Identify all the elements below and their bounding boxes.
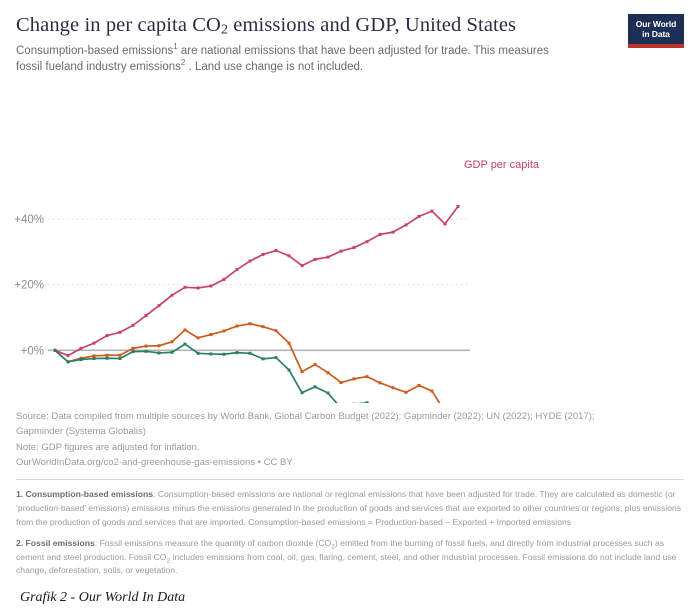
owid-logo-line-1: Our World: [636, 19, 677, 29]
data-point[interactable]: [236, 351, 239, 354]
data-point[interactable]: [184, 343, 187, 346]
source-line-2: Gapminder (Systema Globalis): [16, 424, 684, 439]
data-point[interactable]: [327, 371, 330, 374]
source-block: Source: Data compiled from multiple sour…: [16, 403, 684, 471]
data-point[interactable]: [288, 368, 291, 371]
data-point[interactable]: [223, 329, 226, 332]
y-tick-label: +20%: [14, 280, 44, 292]
data-point[interactable]: [366, 375, 369, 378]
chart-page: Change in per capita CO2 emissions and G…: [0, 0, 700, 612]
data-point[interactable]: [223, 353, 226, 356]
data-point[interactable]: [93, 342, 96, 345]
data-point[interactable]: [327, 391, 330, 394]
data-point[interactable]: [405, 391, 408, 394]
y-tick-label: +40%: [14, 214, 44, 226]
line-chart-svg: +40%+20%+0%-20% 199019952000200520102015…: [0, 78, 700, 403]
data-point[interactable]: [275, 249, 278, 252]
data-point[interactable]: [223, 278, 226, 281]
data-point[interactable]: [106, 334, 109, 337]
data-point[interactable]: [431, 389, 434, 392]
data-point[interactable]: [366, 401, 369, 403]
data-point[interactable]: [262, 253, 265, 256]
data-point[interactable]: [392, 231, 395, 234]
data-point[interactable]: [444, 222, 447, 225]
footnote-2-body-a: : Fossil emissions measure the quantity …: [95, 538, 331, 548]
chart-header: Change in per capita CO2 emissions and G…: [0, 0, 700, 76]
data-point[interactable]: [314, 385, 317, 388]
data-series-group: [54, 205, 460, 403]
data-point[interactable]: [301, 370, 304, 373]
owid-logo-line-2: in Data: [642, 29, 670, 39]
data-point[interactable]: [93, 357, 96, 360]
data-point[interactable]: [301, 391, 304, 394]
y-axis-tick-labels: +40%+20%+0%-20%: [14, 214, 44, 403]
data-point[interactable]: [275, 329, 278, 332]
data-point[interactable]: [314, 363, 317, 366]
data-point[interactable]: [54, 349, 57, 352]
data-point[interactable]: [210, 284, 213, 287]
data-point[interactable]: [197, 286, 200, 289]
data-point[interactable]: [171, 340, 174, 343]
series-line-2: [55, 344, 458, 403]
footer-divider-1: [16, 479, 684, 480]
data-point[interactable]: [93, 354, 96, 357]
series-line-0: [55, 206, 458, 355]
data-point[interactable]: [67, 354, 70, 357]
data-point[interactable]: [418, 215, 421, 218]
figure-caption: Grafik 2 - Our World In Data: [16, 586, 684, 606]
data-point[interactable]: [184, 328, 187, 331]
data-point[interactable]: [132, 347, 135, 350]
data-point[interactable]: [301, 264, 304, 267]
series-inline-labels: GDP per capitaConsumption-based CO₂ per …: [464, 159, 639, 403]
data-point[interactable]: [431, 210, 434, 213]
data-point[interactable]: [418, 384, 421, 387]
data-point[interactable]: [197, 336, 200, 339]
title-rest: emissions and GDP, United States: [228, 14, 516, 36]
data-point[interactable]: [288, 254, 291, 257]
source-line-1: Source: Data compiled from multiple sour…: [16, 409, 684, 424]
subtitle-part-3: and industry emissions: [64, 61, 181, 73]
data-point[interactable]: [184, 286, 187, 289]
chart-footer: Source: Data compiled from multiple sour…: [0, 403, 700, 606]
title-main: Change in per capita CO: [16, 14, 221, 36]
data-point[interactable]: [340, 250, 343, 253]
data-point[interactable]: [327, 256, 330, 259]
data-point[interactable]: [197, 352, 200, 355]
data-point[interactable]: [275, 356, 278, 359]
data-point[interactable]: [67, 360, 70, 363]
data-point[interactable]: [340, 381, 343, 384]
data-point[interactable]: [132, 350, 135, 353]
data-point[interactable]: [249, 259, 252, 262]
data-point[interactable]: [236, 268, 239, 271]
data-point[interactable]: [288, 342, 291, 345]
data-point[interactable]: [106, 354, 109, 357]
series-label-0[interactable]: GDP per capita: [464, 159, 540, 171]
source-url[interactable]: OurWorldInData.org/co2-and-greenhouse-ga…: [16, 455, 684, 470]
data-point[interactable]: [236, 324, 239, 327]
data-point[interactable]: [210, 333, 213, 336]
data-point[interactable]: [80, 347, 83, 350]
data-point[interactable]: [158, 344, 161, 347]
owid-logo[interactable]: Our World in Data: [628, 14, 684, 48]
footnote-1-title: 1. Consumption-based emissions: [16, 489, 153, 499]
data-point[interactable]: [158, 351, 161, 354]
note-gdp-inflation: Note: GDP figures are adjusted for infla…: [16, 440, 684, 455]
footnote-2-title: 2. Fossil emissions: [16, 538, 95, 548]
data-point[interactable]: [249, 322, 252, 325]
subtitle-part-4: . Land use change is not included.: [185, 61, 363, 73]
data-point[interactable]: [119, 354, 122, 357]
data-point[interactable]: [145, 314, 148, 317]
data-point[interactable]: [457, 205, 460, 208]
page-title: Change in per capita CO2 emissions and G…: [16, 14, 684, 39]
series-line-1: [55, 324, 458, 403]
data-point[interactable]: [366, 240, 369, 243]
data-point[interactable]: [106, 357, 109, 360]
data-point[interactable]: [249, 352, 252, 355]
data-point[interactable]: [80, 358, 83, 361]
data-point[interactable]: [145, 345, 148, 348]
data-point[interactable]: [405, 223, 408, 226]
data-point[interactable]: [171, 351, 174, 354]
data-point[interactable]: [119, 331, 122, 334]
data-point[interactable]: [132, 324, 135, 327]
data-point[interactable]: [158, 304, 161, 307]
data-point[interactable]: [171, 294, 174, 297]
subtitle-part-1: Consumption-based emissions: [16, 45, 173, 57]
chart-subtitle: Consumption-based emissions1 are nationa…: [16, 43, 576, 76]
data-point[interactable]: [353, 246, 356, 249]
footnote-1: 1. Consumption-based emissions: Consumpt…: [16, 488, 684, 529]
data-point[interactable]: [145, 350, 148, 353]
data-point[interactable]: [392, 386, 395, 389]
data-point[interactable]: [262, 357, 265, 360]
data-point[interactable]: [379, 233, 382, 236]
chart-plot-area: +40%+20%+0%-20% 199019952000200520102015…: [0, 78, 700, 403]
data-point[interactable]: [210, 352, 213, 355]
data-point[interactable]: [353, 377, 356, 380]
gridlines: [48, 219, 470, 403]
data-point[interactable]: [379, 381, 382, 384]
footnote-2: 2. Fossil emissions: Fossil emissions me…: [16, 537, 684, 578]
data-point[interactable]: [262, 325, 265, 328]
y-tick-label: +0%: [21, 345, 44, 357]
data-point[interactable]: [119, 357, 122, 360]
title-subscript: 2: [221, 23, 228, 38]
data-point[interactable]: [314, 258, 317, 261]
